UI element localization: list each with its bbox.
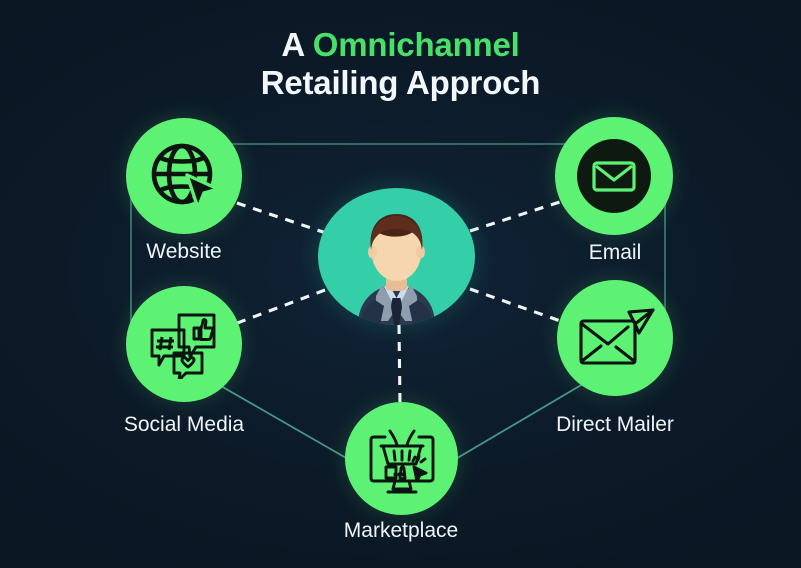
email-disc[interactable] <box>555 117 673 235</box>
envelope-paper-plane-icon <box>575 306 655 370</box>
envelope-icon <box>591 157 637 195</box>
direct-mailer-label: Direct Mailer <box>465 413 765 437</box>
marketplace-label: Marketplace <box>251 519 551 543</box>
monitor-basket-icon <box>364 423 440 495</box>
email-inner-disc <box>577 139 651 213</box>
social-media-disc[interactable] <box>126 286 242 402</box>
center-customer-node[interactable] <box>318 188 475 325</box>
title-line-1: A Omnichannel <box>0 26 801 64</box>
globe-cursor-icon <box>146 138 222 214</box>
marketplace-disc[interactable] <box>345 402 458 515</box>
social-media-label: Social Media <box>34 413 334 437</box>
speech-bubbles-icon <box>146 309 222 379</box>
center-disc <box>318 188 475 325</box>
email-label: Email <box>465 241 765 265</box>
businessman-avatar-icon <box>318 188 475 325</box>
title-prefix: A <box>281 26 312 63</box>
title-accent-word: Omnichannel <box>313 26 520 63</box>
title-line-2: Retailing Approch <box>0 64 801 102</box>
website-disc[interactable] <box>126 118 242 234</box>
page-title: A Omnichannel Retailing Approch <box>0 26 801 103</box>
infographic-canvas: A Omnichannel Retailing Approch <box>0 0 801 568</box>
direct-mailer-disc[interactable] <box>557 280 673 396</box>
website-label: Website <box>34 240 334 264</box>
